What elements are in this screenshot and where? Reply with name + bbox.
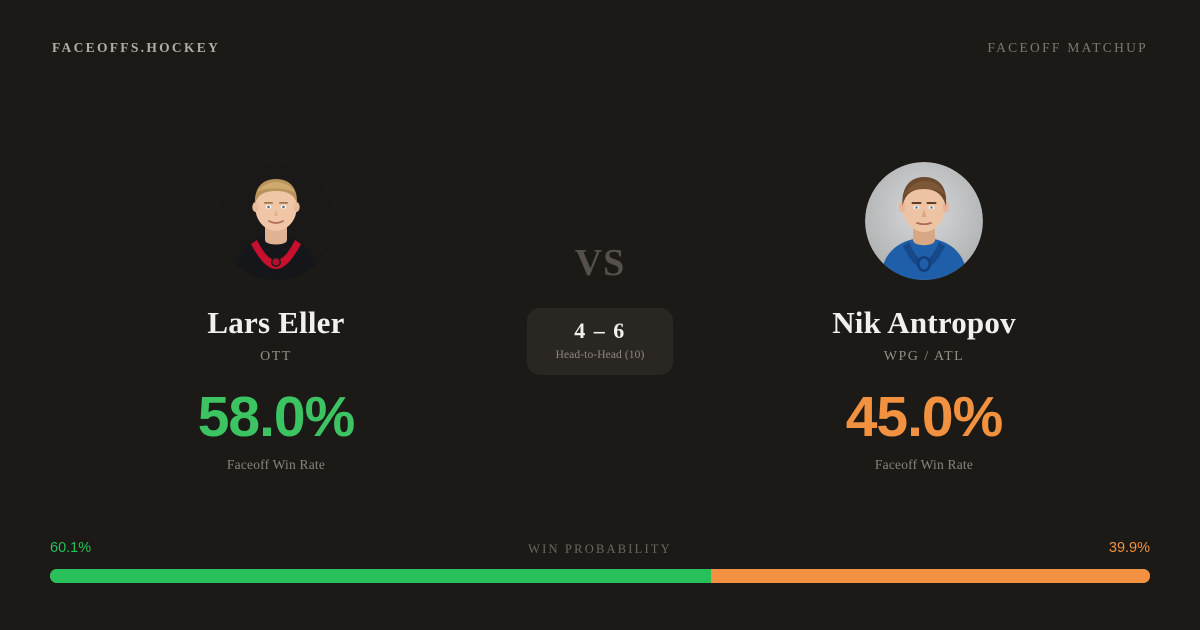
win-probability-section: 60.1% WIN PROBABILITY 39.9% bbox=[50, 540, 1150, 583]
matchup-body: Lars Eller OTT 58.0% Faceoff Win Rate VS… bbox=[0, 96, 1200, 516]
header-tagline: FACEOFF MATCHUP bbox=[987, 40, 1148, 56]
player-headshot-left bbox=[217, 162, 335, 280]
player-name-right: Nik Antropov bbox=[832, 306, 1016, 340]
player-team-right: WPG / ATL bbox=[884, 349, 964, 365]
faceoff-win-rate-label-left: Faceoff Win Rate bbox=[227, 457, 325, 473]
player-card-left[interactable]: Lars Eller OTT 58.0% Faceoff Win Rate bbox=[46, 96, 506, 473]
vs-label: VS bbox=[575, 244, 626, 282]
faceoff-win-rate-left: 58.0% bbox=[198, 389, 355, 446]
faceoff-matchup-card: FACEOFFS.HOCKEY FACEOFF MATCHUP bbox=[0, 0, 1200, 630]
faceoff-win-rate-right: 45.0% bbox=[846, 389, 1003, 446]
head-to-head-score: 4 – 6 bbox=[574, 320, 626, 342]
win-probability-bar[interactable] bbox=[50, 569, 1150, 583]
brand-logo[interactable]: FACEOFFS.HOCKEY bbox=[52, 40, 220, 56]
header: FACEOFFS.HOCKEY FACEOFF MATCHUP bbox=[0, 0, 1200, 96]
player-name-left: Lars Eller bbox=[207, 306, 344, 340]
win-probability-bar-left-fill bbox=[50, 569, 711, 583]
win-probability-labels: 60.1% WIN PROBABILITY 39.9% bbox=[50, 540, 1150, 560]
win-probability-bar-right-fill bbox=[711, 569, 1150, 583]
player-headshot-right bbox=[865, 162, 983, 280]
win-probability-right-value: 39.9% bbox=[1109, 540, 1150, 556]
player-card-right[interactable]: Nik Antropov WPG / ATL 45.0% Faceoff Win… bbox=[694, 96, 1154, 473]
head-to-head-label: Head-to-Head (10) bbox=[556, 350, 645, 362]
win-probability-title: WIN PROBABILITY bbox=[50, 542, 1150, 557]
player-team-left: OTT bbox=[260, 349, 292, 365]
faceoff-win-rate-label-right: Faceoff Win Rate bbox=[875, 457, 973, 473]
versus-column: VS 4 – 6 Head-to-Head (10) bbox=[506, 96, 694, 375]
head-to-head-card[interactable]: 4 – 6 Head-to-Head (10) bbox=[527, 308, 673, 375]
